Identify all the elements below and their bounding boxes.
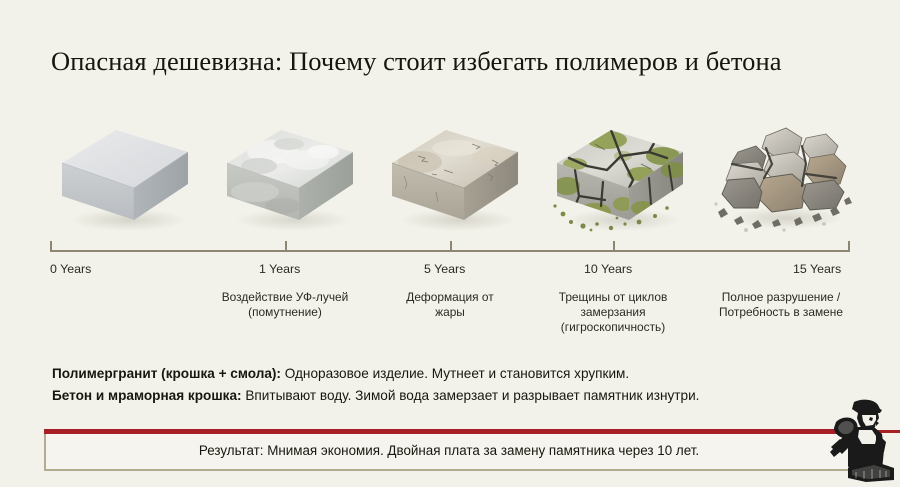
note-line-polymer: Полимергранит (крошка + смола): Одноразо… xyxy=(52,363,842,385)
cracked-mossy-block-icon xyxy=(545,108,695,238)
year-label-4: 15 Years xyxy=(793,262,841,276)
block-slot-1 xyxy=(215,108,365,238)
stage-label-4: Полное разрушение /Потребность в замене xyxy=(681,290,881,320)
block-slot-0 xyxy=(50,108,200,238)
deformed-block-icon xyxy=(380,108,530,238)
year-label-1: 1 Years xyxy=(259,262,300,276)
timeline-tick-4 xyxy=(848,241,850,252)
timeline-tick-0 xyxy=(50,241,52,252)
timeline-tick-3 xyxy=(613,241,615,252)
infographic-canvas: Опасная дешевизна: Почему стоит избегать… xyxy=(0,0,900,485)
block-slot-2 xyxy=(380,108,530,238)
year-label-3: 10 Years xyxy=(584,262,632,276)
crumbled-block-icon xyxy=(710,108,860,238)
pristine-block-icon xyxy=(50,108,200,238)
stonemason-logo-icon xyxy=(818,396,896,482)
clouded-block-icon xyxy=(215,108,365,238)
note-line-concrete: Бетон и мраморная крошка: Впитывают воду… xyxy=(52,385,842,407)
block-slot-4 xyxy=(710,108,860,238)
result-red-accent-bar xyxy=(44,429,856,434)
year-label-0: 0 Years xyxy=(50,262,91,276)
timeline-axis xyxy=(50,250,850,252)
timeline-tick-1 xyxy=(285,241,287,252)
note-label-polymer: Полимергранит (крошка + смола): xyxy=(52,366,281,381)
result-text: Результат: Мнимая экономия. Двойная плат… xyxy=(199,443,699,458)
note-text-concrete: Впитывают воду. Зимой вода замерзает и р… xyxy=(242,388,700,403)
material-notes: Полимергранит (крошка + смола): Одноразо… xyxy=(52,363,842,406)
year-label-2: 5 Years xyxy=(424,262,465,276)
result-banner: Результат: Мнимая экономия. Двойная плат… xyxy=(44,429,856,473)
note-text-polymer: Одноразовое изделие. Мутнеет и становитс… xyxy=(281,366,629,381)
degradation-block-row xyxy=(50,108,850,238)
block-slot-3 xyxy=(545,108,695,238)
note-label-concrete: Бетон и мраморная крошка: xyxy=(52,388,242,403)
page-title: Опасная дешевизна: Почему стоит избегать… xyxy=(51,46,861,77)
timeline-tick-2 xyxy=(450,241,452,252)
result-box: Результат: Мнимая экономия. Двойная плат… xyxy=(44,431,854,471)
